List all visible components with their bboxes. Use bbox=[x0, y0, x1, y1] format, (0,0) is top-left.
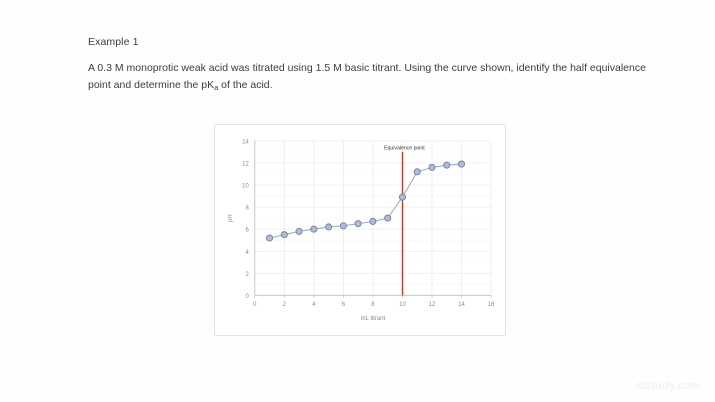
prompt-subscript-a: a bbox=[214, 83, 218, 92]
x-tick-label: 0 bbox=[253, 302, 257, 308]
data-point-marker[interactable] bbox=[385, 215, 391, 221]
slide-page: Example 1 A 0.3 M monoprotic weak acid w… bbox=[0, 0, 715, 402]
y-tick-label: 12 bbox=[242, 162, 249, 168]
x-tick-label: 16 bbox=[488, 302, 495, 308]
y-tick-label: 8 bbox=[245, 206, 249, 212]
data-point-marker[interactable] bbox=[429, 164, 435, 170]
prompt-text-part2: of the acid. bbox=[218, 79, 272, 91]
titration-curve-svg: 024681012140246810121416mL titrantpHEqui… bbox=[221, 131, 499, 329]
data-point-marker[interactable] bbox=[458, 161, 464, 167]
y-tick-label: 6 bbox=[245, 228, 249, 234]
x-tick-label: 2 bbox=[283, 302, 286, 308]
y-tick-label: 10 bbox=[242, 184, 249, 190]
y-tick-label: 14 bbox=[242, 139, 249, 145]
prompt-text-part1: A 0.3 M monoprotic weak acid was titrate… bbox=[88, 62, 646, 91]
data-point-marker[interactable] bbox=[399, 194, 405, 200]
data-point-marker[interactable] bbox=[266, 235, 272, 241]
watermark-label: Study.com bbox=[644, 380, 701, 392]
y-tick-label: 2 bbox=[245, 272, 248, 278]
titration-chart-card: 024681012140246810121416mL titrantpHEqui… bbox=[214, 124, 506, 336]
question-prompt: A 0.3 M monoprotic weak acid was titrate… bbox=[88, 60, 648, 95]
y-axis-title: pH bbox=[228, 214, 234, 222]
example-heading: Example 1 bbox=[88, 36, 648, 48]
equivalence-point-label: Equivalence point bbox=[384, 145, 425, 151]
x-tick-label: 4 bbox=[312, 302, 316, 308]
data-point-marker[interactable] bbox=[414, 169, 420, 175]
x-tick-label: 8 bbox=[371, 302, 375, 308]
data-point-marker[interactable] bbox=[296, 228, 302, 234]
data-point-marker[interactable] bbox=[311, 226, 317, 232]
x-tick-label: 10 bbox=[399, 302, 406, 308]
y-tick-label: 0 bbox=[245, 294, 249, 300]
y-tick-labels: 02468101214 bbox=[242, 139, 249, 299]
copyright-icon: © bbox=[636, 381, 644, 392]
data-point-marker[interactable] bbox=[370, 218, 376, 224]
y-tick-label: 4 bbox=[245, 250, 249, 256]
data-point-marker[interactable] bbox=[281, 232, 287, 238]
study-com-watermark: ©Study.com bbox=[636, 380, 701, 392]
x-axis-title: mL titrant bbox=[361, 316, 386, 322]
x-tick-labels: 0246810121416 bbox=[253, 295, 495, 308]
x-tick-label: 12 bbox=[429, 302, 436, 308]
x-tick-label: 6 bbox=[342, 302, 346, 308]
data-point-marker[interactable] bbox=[355, 221, 361, 227]
titration-chart: 024681012140246810121416mL titrantpHEqui… bbox=[221, 131, 499, 329]
data-point-marker[interactable] bbox=[340, 223, 346, 229]
data-point-marker[interactable] bbox=[326, 224, 332, 230]
data-point-marker[interactable] bbox=[444, 162, 450, 168]
x-tick-label: 14 bbox=[458, 302, 465, 308]
question-text-block: Example 1 A 0.3 M monoprotic weak acid w… bbox=[88, 36, 648, 95]
